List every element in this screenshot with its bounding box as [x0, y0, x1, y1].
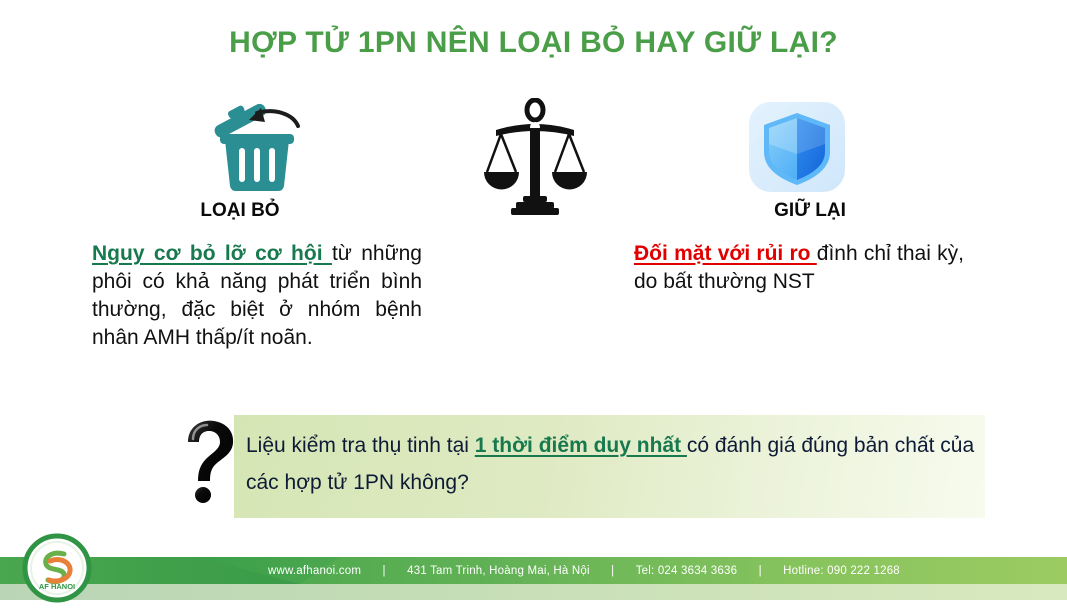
footer-hotline: Hotline: 090 222 1268: [783, 565, 900, 577]
column-body-discard: Nguy cơ bỏ lỡ cơ hội từ những phôi có kh…: [92, 240, 422, 353]
af-hanoi-logo: AF HANOI: [22, 533, 92, 603]
question-highlight-text: 1 thời điểm duy nhất: [475, 434, 687, 457]
question-text: Liệu kiểm tra thụ tinh tại 1 thời điểm d…: [246, 428, 981, 502]
footer-address: 431 Tam Trinh, Hoàng Mai, Hà Nội: [407, 565, 590, 577]
column-body-keep: Đối mặt với rủi ro đình chỉ thai kỳ, do …: [634, 240, 964, 296]
column-heading-keep: GIỮ LẠI: [710, 200, 910, 222]
footer-contact-bar: www.afhanoi.com | 431 Tam Trinh, Hoàng M…: [0, 561, 1067, 581]
column-heading-discard: LOẠI BỎ: [140, 200, 340, 222]
footer-separator-3: |: [737, 565, 783, 577]
question-lead-text: Liệu kiểm tra thụ tinh tại: [246, 434, 475, 457]
balance-scales-icon: [480, 98, 590, 216]
logo-text: AF HANOI: [39, 582, 75, 591]
keep-highlight-text: Đối mặt với rủi ro: [634, 242, 817, 265]
footer-strip: [0, 584, 1067, 600]
footer-tel: Tel: 024 3634 3636: [636, 565, 737, 577]
slide-canvas: HỢP TỬ 1PN NÊN LOẠI BỎ HAY GIỮ LẠI?: [0, 0, 1067, 600]
shield-icon: [745, 100, 849, 194]
page-title: HỢP TỬ 1PN NÊN LOẠI BỎ HAY GIỮ LẠI?: [0, 26, 1067, 60]
footer-separator-1: |: [361, 565, 407, 577]
trash-can-icon: [205, 100, 305, 192]
footer-separator-2: |: [590, 565, 636, 577]
discard-highlight-text: Nguy cơ bỏ lỡ cơ hội: [92, 242, 332, 265]
question-mark-icon: [170, 415, 242, 507]
footer-website[interactable]: www.afhanoi.com: [268, 565, 361, 577]
